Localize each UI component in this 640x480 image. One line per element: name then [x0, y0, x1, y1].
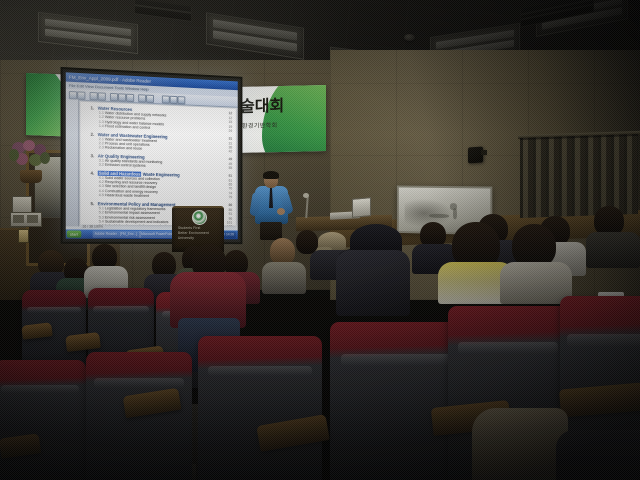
- pdf-sidebar-pane[interactable]: [66, 99, 79, 226]
- audience-head: [296, 230, 318, 254]
- ceiling-air-vent: [520, 0, 594, 28]
- ceiling-light-fixture: [38, 12, 138, 54]
- auditorium-seat[interactable]: [330, 322, 464, 480]
- auditorium-seat[interactable]: [0, 360, 86, 480]
- wall-outlets[interactable]: [10, 212, 42, 227]
- presenter-hand: [277, 208, 285, 215]
- wall-light-switch[interactable]: [12, 196, 32, 213]
- wall-speaker-bracket: [481, 150, 487, 155]
- ceiling-air-vent: [134, 0, 192, 22]
- podium-text-line: Students First: [178, 226, 200, 230]
- presenter-hair: [263, 171, 279, 179]
- audience-head-bald: [270, 238, 295, 265]
- wall-outlet-single[interactable]: [18, 229, 29, 243]
- ceiling-light-fixture: [206, 12, 304, 60]
- whiteboard-marking: [453, 208, 457, 219]
- person-black-jacket: [336, 250, 410, 316]
- toc-section-highlighted: 4.Solid and Hazardous Waste Engineering …: [91, 170, 236, 200]
- audience-body: [586, 232, 640, 268]
- banner-right: 술대회 환경기반학회: [236, 85, 326, 153]
- toc-section: 3.Air Quality Engineering 49 3.1Air qual…: [91, 153, 236, 171]
- audience-body: [500, 262, 572, 304]
- audience-body: [262, 262, 306, 294]
- whiteboard-marking: [429, 213, 449, 217]
- audience-trousers: [556, 430, 640, 480]
- university-crest-icon: [192, 210, 207, 225]
- auditorium-seat[interactable]: [198, 336, 322, 480]
- banner-right-headline: 술대회: [240, 92, 284, 117]
- toc-section: 1.Water Resources 12 1.1Water distributi…: [91, 105, 236, 133]
- photo-scene: 2 일시 술대회 환경기반학회 FM_Env_Appl_2009.pdf - A…: [0, 0, 640, 480]
- ceiling-sprinkler: [404, 34, 415, 41]
- podium-text-line: Better Environment: [178, 231, 209, 235]
- start-button[interactable]: start: [67, 230, 81, 237]
- laptop-screen: [352, 197, 371, 218]
- ceiling-light-fixture: [536, 0, 628, 37]
- microphone-head-icon: [303, 193, 309, 198]
- presenter: [252, 172, 292, 238]
- audience-trousers: [472, 408, 568, 480]
- banner-right-subline: 환경기반학회: [242, 120, 278, 130]
- flower-arrangement: [8, 140, 52, 182]
- audience-beige-cap: [318, 232, 346, 250]
- taskbar-item[interactable]: Adobe Reader - [FM_Env...]: [93, 231, 141, 238]
- toc-section: 2.Water and Wastewater Engineering 31 2.…: [91, 131, 236, 154]
- window-curtain: [520, 134, 638, 218]
- pdf-status-bar: 16 / 38 100%: [80, 224, 105, 228]
- podium-text-line: University: [178, 236, 194, 240]
